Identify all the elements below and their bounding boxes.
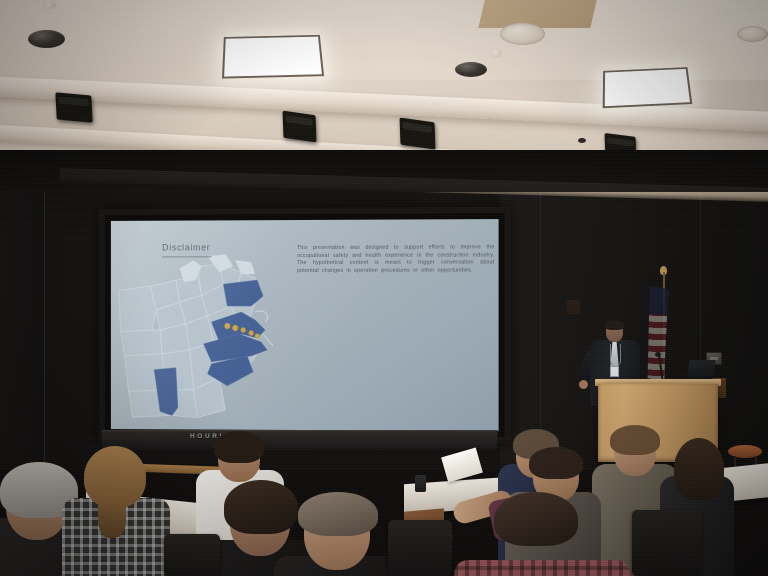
wall-panel-left	[0, 180, 45, 470]
attendee-hair	[298, 492, 378, 536]
attendee-hair	[674, 438, 724, 500]
attendee-ponytail-tail	[98, 494, 126, 538]
ceiling-light-panel-right	[603, 67, 693, 108]
av-equipment-bar	[102, 430, 498, 450]
ceiling-speaker-far-right	[737, 26, 768, 42]
ceiling-speaker-left	[28, 30, 65, 48]
attendee-hair	[224, 480, 298, 534]
ceiling-sensor	[490, 48, 502, 58]
ceiling-speaker-right	[500, 23, 545, 45]
attendee-hair	[529, 447, 583, 479]
slide-body-text: This presentation was designed to suppor…	[297, 244, 495, 275]
track-light-2	[283, 111, 317, 143]
smoke-detector	[43, 2, 56, 9]
attendee-hair	[610, 425, 660, 455]
coffee-cup	[415, 475, 426, 492]
attendee-hair	[494, 492, 578, 546]
wall-seam-left	[44, 180, 45, 470]
attendee-hair	[214, 431, 264, 463]
ceiling-light-panel-left	[222, 35, 324, 79]
presenter-lanyard	[610, 344, 621, 366]
presenter-hand	[579, 380, 588, 389]
microphone-head-icon	[655, 352, 661, 357]
chair[interactable]	[388, 520, 452, 576]
ceiling	[0, 0, 768, 172]
chair[interactable]	[164, 534, 220, 576]
ceiling-vent	[478, 0, 597, 28]
slide-title: Disclaimer	[162, 242, 210, 252]
podium-laptop	[686, 360, 715, 380]
wall-mounted-box	[567, 300, 580, 314]
slide-title-underline	[162, 256, 211, 257]
presenter-badge	[610, 366, 619, 377]
track-light-1	[55, 92, 92, 122]
track-light-3	[400, 117, 436, 149]
presenter-hair	[605, 320, 624, 330]
projection-screen[interactable]: Disclaimer This presentation was designe…	[99, 207, 511, 443]
ceiling-speaker-mid	[455, 62, 487, 77]
conference-room-photo: Disclaimer This presentation was designe…	[0, 0, 768, 576]
chair[interactable]	[632, 510, 702, 576]
upper-wall-shadow	[0, 150, 768, 192]
us-map-graphic	[117, 250, 295, 420]
presentation-slide: Disclaimer This presentation was designe…	[111, 219, 499, 431]
ceiling-fixture-small	[578, 138, 586, 143]
wall-seam-mid	[540, 175, 541, 470]
